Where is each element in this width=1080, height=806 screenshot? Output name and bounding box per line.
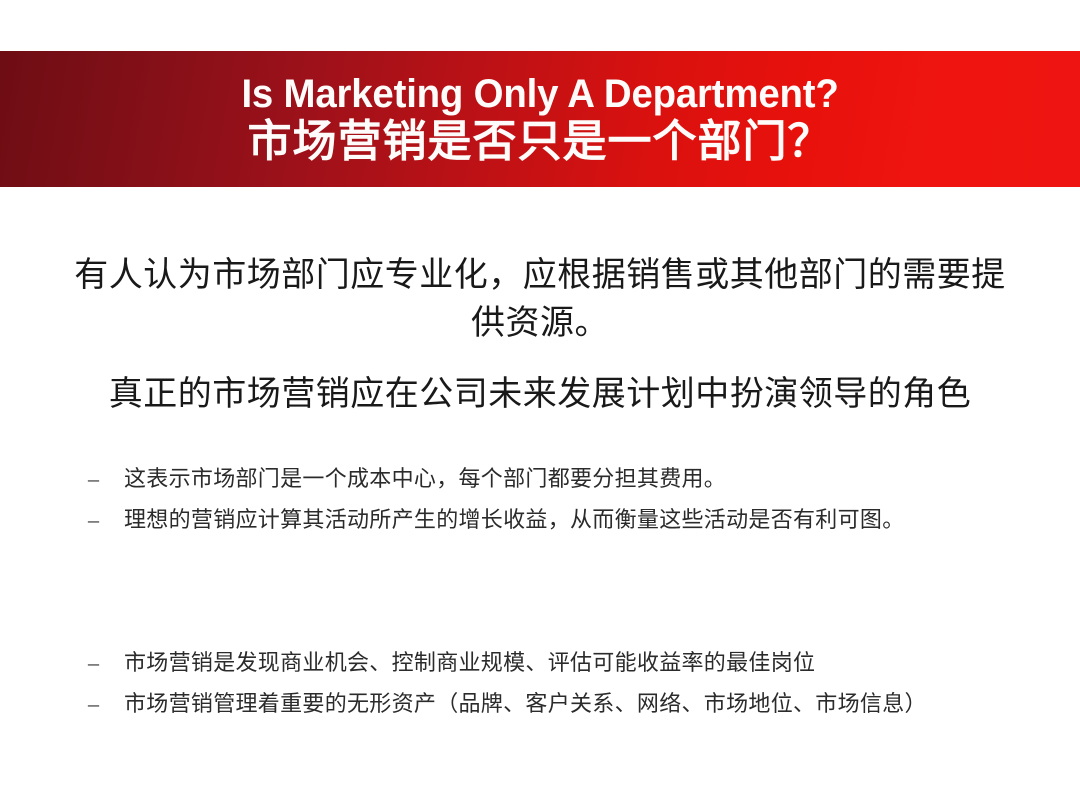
bullet-list-lower: – 市场营销是发现商业机会、控制商业规模、评估可能收益率的最佳岗位 – 市场营销… — [88, 648, 1048, 729]
dash-bullet-icon: – — [88, 689, 124, 719]
list-item-label: 市场营销是发现商业机会、控制商业规模、评估可能收益率的最佳岗位 — [124, 648, 1048, 678]
title-banner: Is Marketing Only A Department? 市场营销是否只是… — [0, 51, 1080, 187]
list-item: – 市场营销是发现商业机会、控制商业规模、评估可能收益率的最佳岗位 — [88, 648, 1048, 678]
slide-title-chinese: 市场营销是否只是一个部门？ — [248, 120, 833, 164]
slide-title-english: Is Marketing Only A Department? — [241, 74, 838, 114]
dash-bullet-icon: – — [88, 505, 124, 535]
dash-bullet-icon: – — [88, 648, 124, 678]
list-item-label: 理想的营销应计算其活动所产生的增长收益，从而衡量这些活动是否有利可图。 — [124, 505, 1048, 535]
list-item: – 这表示市场部门是一个成本中心，每个部门都要分担其费用。 — [88, 464, 1048, 494]
list-item-label: 市场营销管理着重要的无形资产（品牌、客户关系、网络、市场地位、市场信息） — [124, 689, 1048, 719]
slide-root: Is Marketing Only A Department? 市场营销是否只是… — [0, 0, 1080, 806]
dash-bullet-icon: – — [88, 464, 124, 494]
list-item-label: 这表示市场部门是一个成本中心，每个部门都要分担其费用。 — [124, 464, 1048, 494]
lead-paragraph-1: 有人认为市场部门应专业化，应根据销售或其他部门的需要提供资源。 — [60, 252, 1020, 349]
lead-paragraph-2: 真正的市场营销应在公司未来发展计划中扮演领导的角色 — [60, 371, 1020, 419]
bullet-list-upper: – 这表示市场部门是一个成本中心，每个部门都要分担其费用。 – 理想的营销应计算… — [88, 464, 1048, 545]
list-item: – 市场营销管理着重要的无形资产（品牌、客户关系、网络、市场地位、市场信息） — [88, 689, 1048, 719]
list-item: – 理想的营销应计算其活动所产生的增长收益，从而衡量这些活动是否有利可图。 — [88, 505, 1048, 535]
lead-paragraph-block: 有人认为市场部门应专业化，应根据销售或其他部门的需要提供资源。 真正的市场营销应… — [60, 252, 1020, 419]
